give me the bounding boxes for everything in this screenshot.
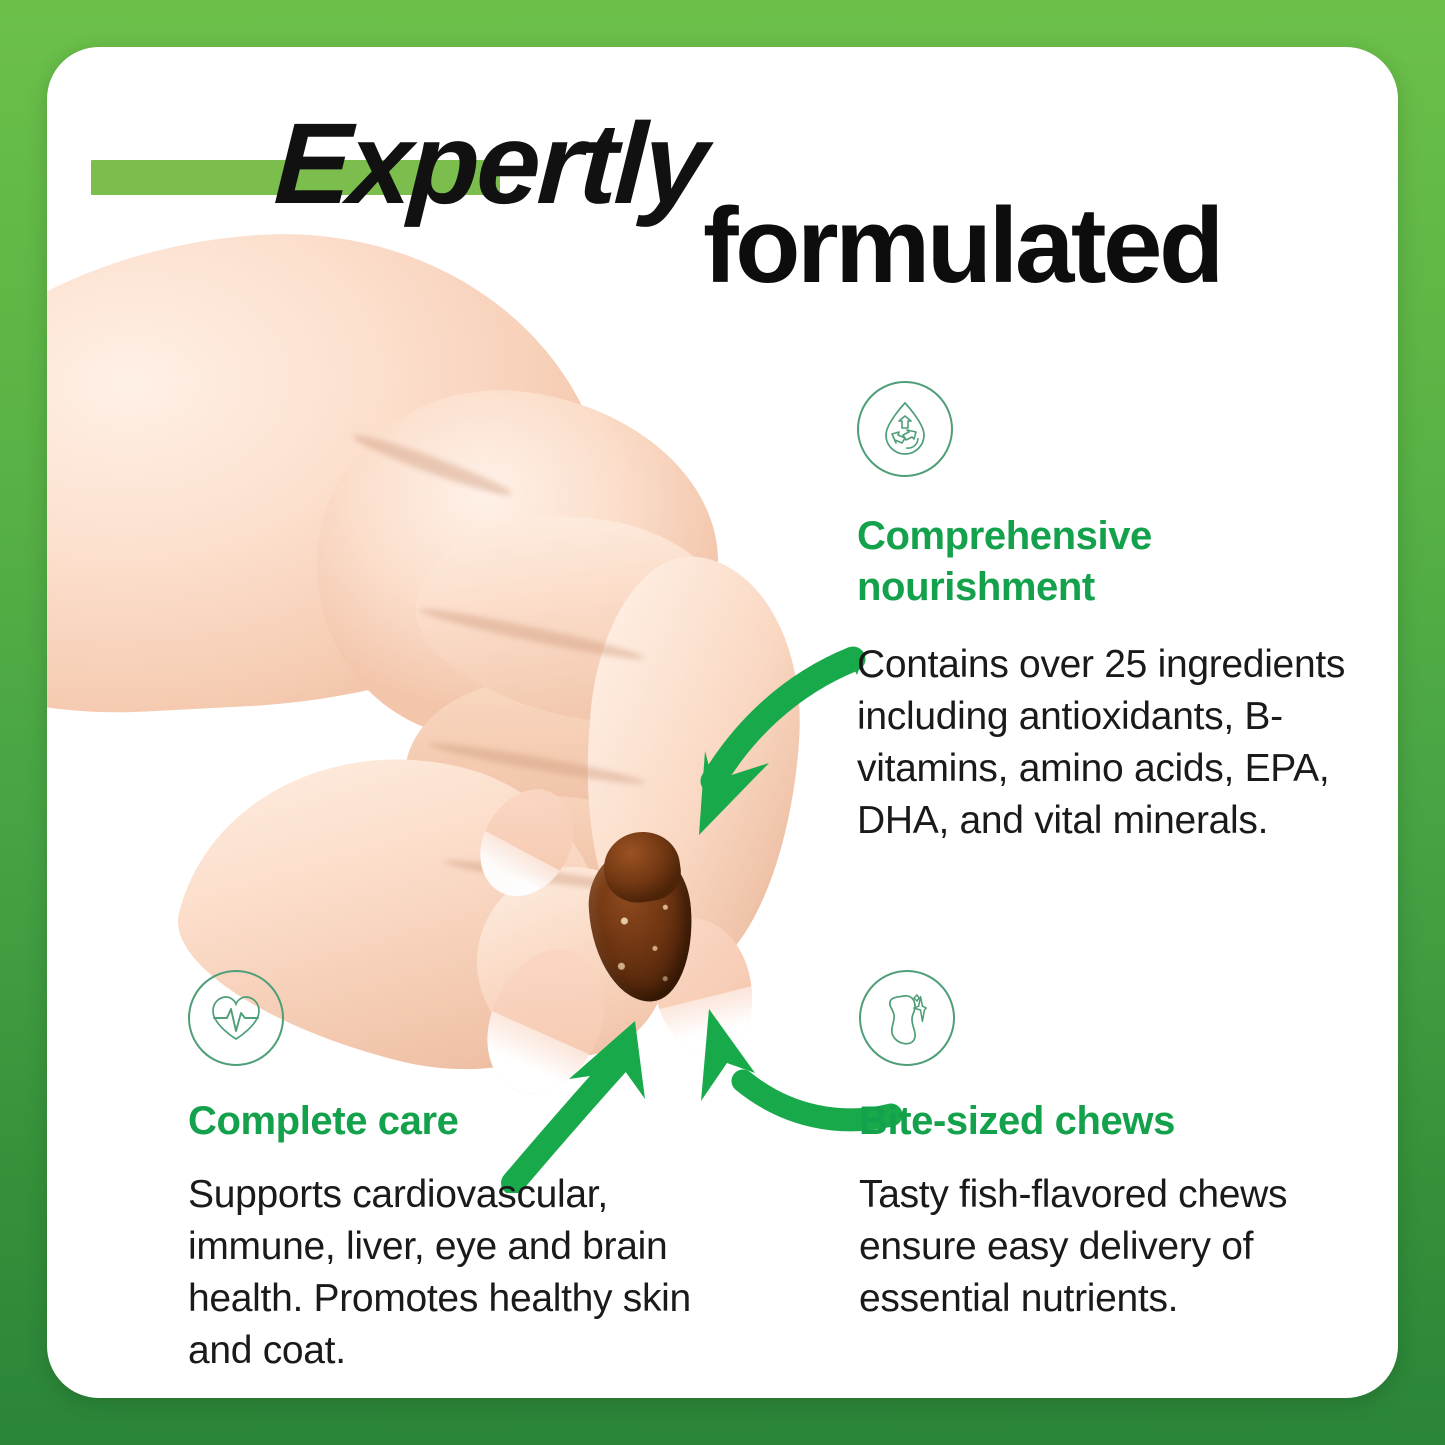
arrow-to-chew-from-top-right: [639, 623, 889, 873]
white-content-card: Expertly formulated: [47, 47, 1398, 1398]
feature-body: Tasty fish-flavored chews ensure easy de…: [859, 1169, 1329, 1325]
icon-ring: [188, 970, 284, 1066]
feature-title-line2: nourishment: [857, 565, 1095, 609]
droplet-recycle-icon: [874, 398, 936, 460]
icon-ring: [859, 970, 955, 1066]
icon-ring: [857, 381, 953, 477]
feature-title: Complete care: [188, 1096, 748, 1147]
feature-title-line1: Comprehensive: [857, 514, 1152, 558]
feature-body: Supports cardiovascular, immune, liver, …: [188, 1169, 748, 1376]
chew-sparkle-icon: [876, 987, 938, 1049]
feature-body: Contains over 25 ingredients including a…: [857, 639, 1398, 846]
feature-complete-care: Complete care Supports cardiovascular, i…: [188, 970, 748, 1377]
feature-title: Bite-sized chews: [859, 1096, 1329, 1147]
hand-holding-chew-photo: [47, 157, 807, 1087]
promo-graphic: Expertly formulated: [0, 0, 1445, 1445]
feature-comprehensive-nourishment: Comprehensivenourishment Contains over 2…: [857, 381, 1398, 847]
heart-pulse-icon: [205, 987, 267, 1049]
feature-bite-sized-chews: Bite-sized chews Tasty fish-flavored che…: [859, 970, 1329, 1325]
feature-title: Comprehensivenourishment: [857, 511, 1398, 613]
